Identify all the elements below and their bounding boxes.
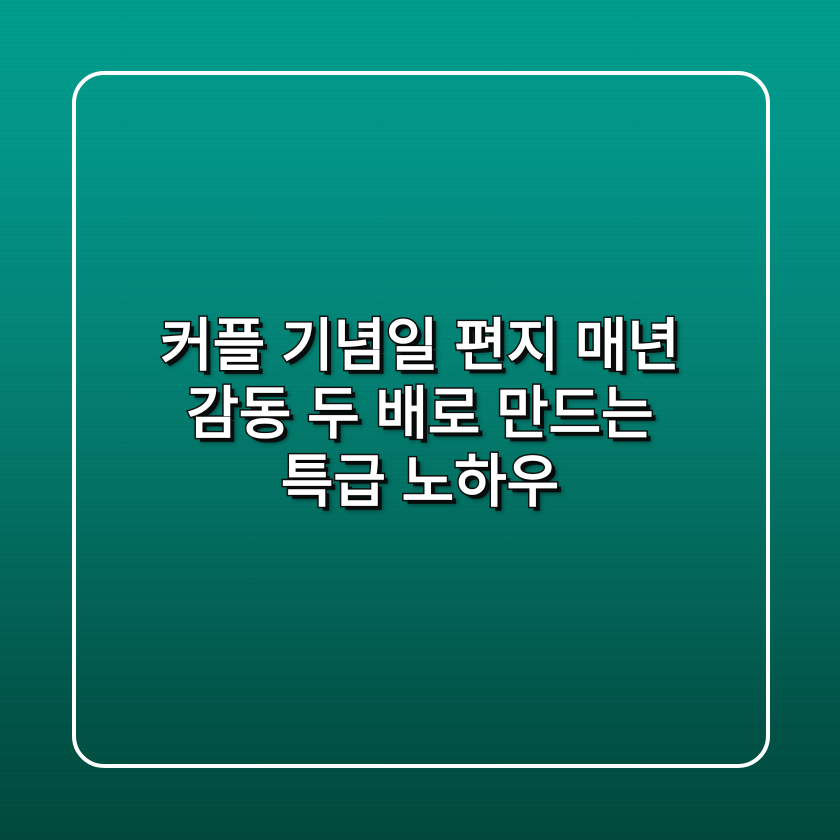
headline-text-block: 커플 기념일 편지 매년 감동 두 배로 만드는 특급 노하우: [0, 312, 840, 516]
headline-line-3: 특급 노하우: [90, 448, 750, 516]
headline-line-1: 커플 기념일 편지 매년: [90, 312, 750, 380]
headline-line-2: 감동 두 배로 만드는: [90, 380, 750, 448]
thumbnail-canvas: 커플 기념일 편지 매년 감동 두 배로 만드는 특급 노하우: [0, 0, 840, 840]
